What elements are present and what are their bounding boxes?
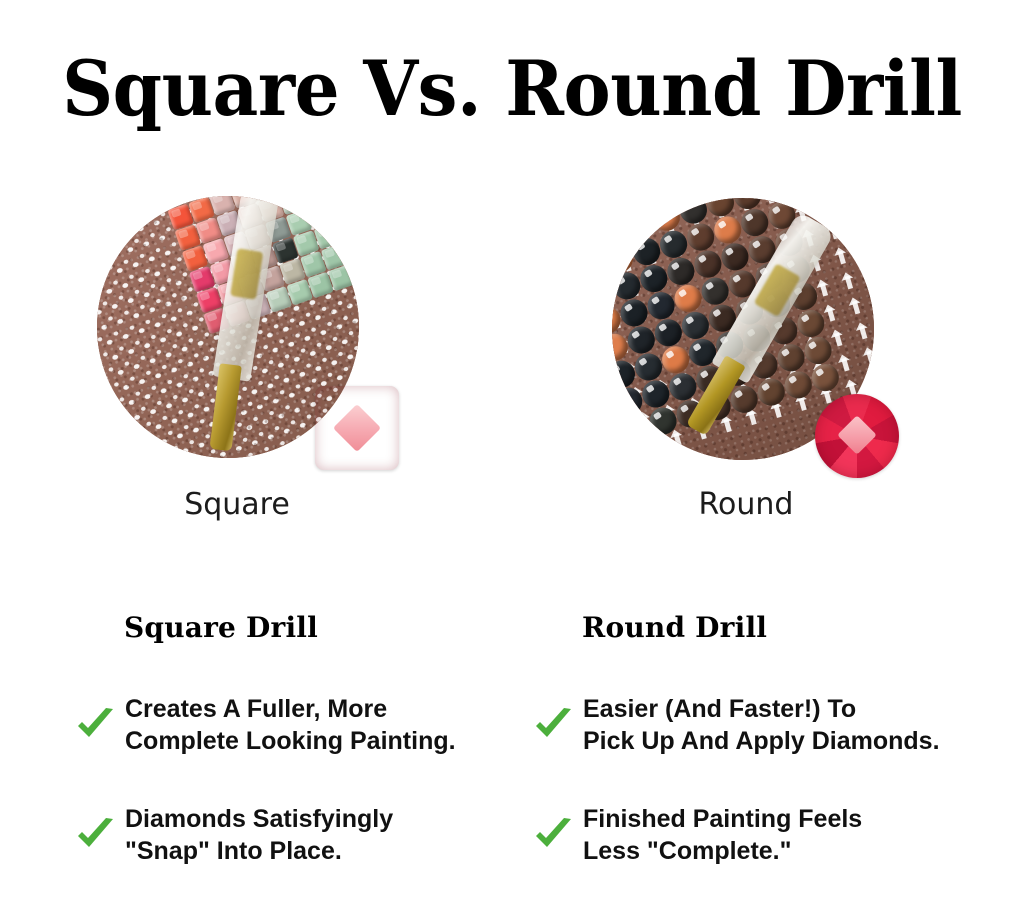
list-item: Finished Painting Feels Less "Complete." bbox=[532, 803, 952, 867]
check-icon bbox=[74, 704, 116, 746]
list-item: Diamonds Satisfyingly "Snap" Into Place. bbox=[74, 803, 494, 867]
benefit-list-round: Easier (And Faster!) To Pick Up And Appl… bbox=[532, 693, 952, 913]
heading-round-drill: Round Drill bbox=[582, 611, 767, 644]
square-red-gem bbox=[315, 386, 399, 470]
page-title: Square Vs. Round Drill bbox=[36, 48, 988, 130]
square-drill-photo-group bbox=[97, 196, 397, 486]
benefit-text: Diamonds Satisfyingly "Snap" Into Place. bbox=[125, 803, 393, 867]
list-item: Creates A Fuller, More Complete Looking … bbox=[74, 693, 494, 757]
list-item: Easier (And Faster!) To Pick Up And Appl… bbox=[532, 693, 952, 757]
round-red-gem bbox=[815, 394, 899, 478]
check-icon bbox=[74, 814, 116, 856]
benefit-text: Creates A Fuller, More Complete Looking … bbox=[125, 693, 456, 757]
caption-square: Square bbox=[87, 487, 387, 522]
check-icon bbox=[532, 814, 574, 856]
caption-round: Round bbox=[596, 487, 896, 522]
benefit-list-square: Creates A Fuller, More Complete Looking … bbox=[74, 693, 494, 913]
benefit-text: Finished Painting Feels Less "Complete." bbox=[583, 803, 862, 867]
check-icon bbox=[532, 704, 574, 746]
round-drill-photo-group bbox=[612, 198, 912, 488]
benefit-text: Easier (And Faster!) To Pick Up And Appl… bbox=[583, 693, 940, 757]
heading-square-drill: Square Drill bbox=[124, 611, 318, 644]
